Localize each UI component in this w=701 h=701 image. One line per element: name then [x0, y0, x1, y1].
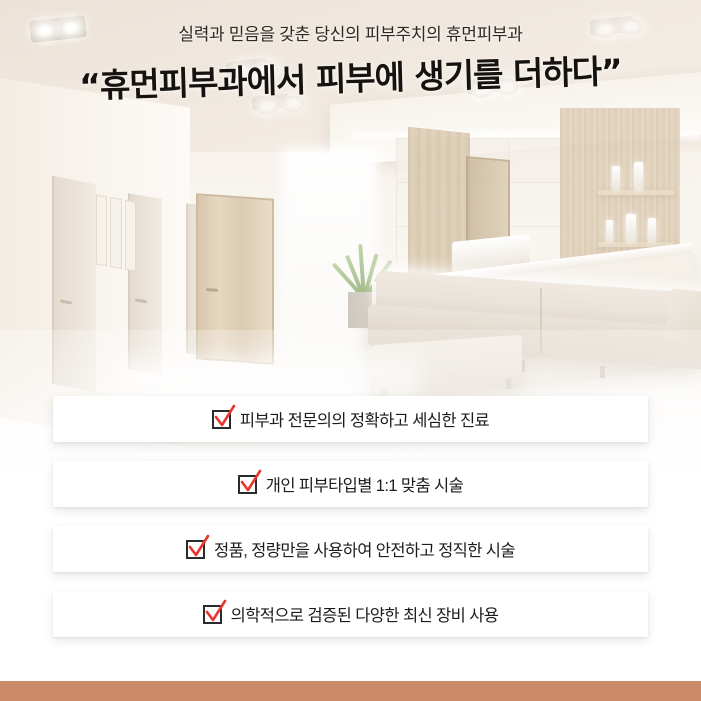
- product-bottle: [606, 220, 613, 242]
- door-handle: [135, 298, 147, 303]
- checkbox-checked-icon: [212, 410, 231, 429]
- feature-card[interactable]: 개인 피부타입별 1:1 맞춤 시술: [53, 461, 648, 507]
- feature-card[interactable]: 피부과 전문의의 정확하고 세심한 진료: [53, 396, 648, 442]
- product-bottle: [612, 166, 620, 190]
- checkbox-checked-icon: [203, 605, 222, 624]
- product-bottle: [626, 214, 636, 242]
- product-bottle: [648, 218, 656, 242]
- feature-card-list: 피부과 전문의의 정확하고 세심한 진료 개인 피부타입별 1:1 맞춤 시술 …: [53, 396, 648, 656]
- product-bottle: [634, 162, 643, 190]
- feature-card-label: 개인 피부타입별 1:1 맞춤 시술: [266, 472, 463, 496]
- feature-card-label: 의학적으로 검증된 다양한 최신 장비 사용: [231, 602, 499, 626]
- feature-card-label: 정품, 정량만을 사용하여 안전하고 정직한 시술: [214, 537, 515, 561]
- door-handle: [60, 299, 72, 304]
- checkbox-checked-icon: [238, 475, 257, 494]
- feature-card-label: 피부과 전문의의 정확하고 세심한 진료: [240, 407, 489, 431]
- hero-subtitle: 실력과 믿음을 갖춘 당신의 피부주치의 휴먼피부과: [0, 24, 701, 46]
- feature-card[interactable]: 의학적으로 검증된 다양한 최신 장비 사용: [53, 591, 648, 637]
- checkbox-checked-icon: [186, 540, 205, 559]
- display-shelf: [598, 190, 674, 195]
- hero-text-block: 실력과 믿음을 갖춘 당신의 피부주치의 휴먼피부과 “휴먼피부과에서 피부에 …: [0, 24, 701, 98]
- wall-picture-frames: [96, 194, 136, 271]
- bottom-accent-bar: [0, 681, 701, 701]
- promo-page: ☆ HUMAN 실력과 믿음을 갖춘 당신의 피부주치의 휴먼피부과 “휴먼피부…: [0, 0, 701, 701]
- feature-card[interactable]: 정품, 정량만을 사용하여 안전하고 정직한 시술: [53, 526, 648, 572]
- door-handle: [206, 288, 218, 292]
